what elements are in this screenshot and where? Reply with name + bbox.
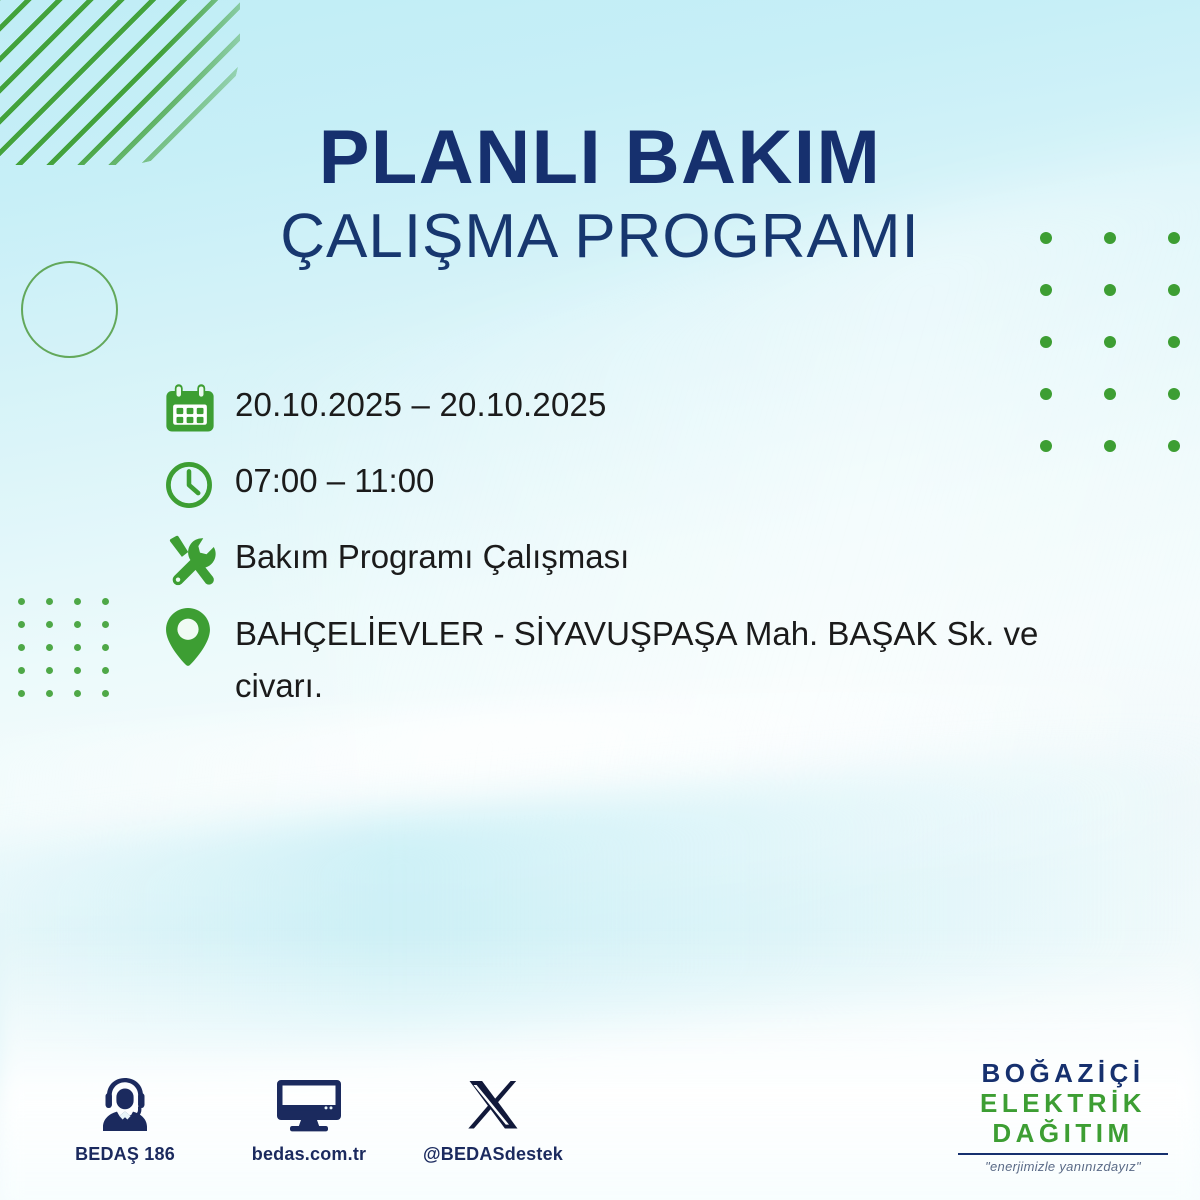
logo-line-elektrik: ELEKTRİK (954, 1088, 1172, 1118)
contact-x-account[interactable]: @BEDASdestek (423, 1068, 563, 1165)
page-title: PLANLI BAKIM ÇALIŞMA PROGRAMI (0, 118, 1200, 270)
contact-label: @BEDASdestek (423, 1144, 563, 1165)
map-pin-icon (163, 606, 235, 668)
calendar-icon (163, 378, 235, 440)
date-value: 20.10.2025 – 20.10.2025 (235, 378, 607, 430)
tools-icon (163, 530, 235, 592)
work-type-value: Bakım Programı Çalışması (235, 530, 629, 582)
location-value: BAHÇELİEVLER - SİYAVUŞPAŞA Mah. BAŞAK Sk… (235, 606, 1090, 712)
headset-agent-icon (55, 1068, 195, 1134)
footer-contacts: BEDAŞ 186 bedas.com.tr (55, 1068, 563, 1165)
logo-divider (958, 1153, 1168, 1155)
detail-row-location: BAHÇELİEVLER - SİYAVUŞPAŞA Mah. BAŞAK Sk… (163, 606, 1103, 712)
contact-label: bedas.com.tr (239, 1144, 379, 1165)
planli-bakim-poster: PLANLI BAKIM ÇALIŞMA PROGRAMI (0, 0, 1200, 1200)
background-sheen-b (0, 716, 1200, 1103)
circle-outline-decoration (21, 261, 118, 358)
monitor-icon (239, 1068, 379, 1134)
time-value: 07:00 – 11:00 (235, 454, 434, 506)
detail-row-time: 07:00 – 11:00 (163, 454, 1103, 516)
contact-call-center[interactable]: BEDAŞ 186 (55, 1068, 195, 1165)
logo-line-dagitim: DAĞITIM (954, 1118, 1172, 1148)
detail-row-date: 20.10.2025 – 20.10.2025 (163, 378, 1103, 440)
contact-website[interactable]: bedas.com.tr (239, 1068, 379, 1165)
x-twitter-icon (423, 1068, 563, 1134)
outage-details: 20.10.2025 – 20.10.2025 07:00 – 11:00 (163, 378, 1103, 712)
detail-row-work-type: Bakım Programı Çalışması (163, 530, 1103, 592)
clock-icon (163, 454, 235, 516)
dot-grid-left-decoration (18, 598, 130, 713)
logo-tagline: "enerjimizle yanınızdayız" (954, 1159, 1172, 1174)
logo-line-bogazici: BOĞAZİÇİ (954, 1058, 1172, 1088)
title-line-secondary: ÇALIŞMA PROGRAMI (0, 204, 1200, 270)
contact-label: BEDAŞ 186 (55, 1144, 195, 1165)
title-line-primary: PLANLI BAKIM (0, 118, 1200, 198)
bedas-logo: BOĞAZİÇİ ELEKTRİK DAĞITIM "enerjimizle y… (954, 1058, 1172, 1174)
